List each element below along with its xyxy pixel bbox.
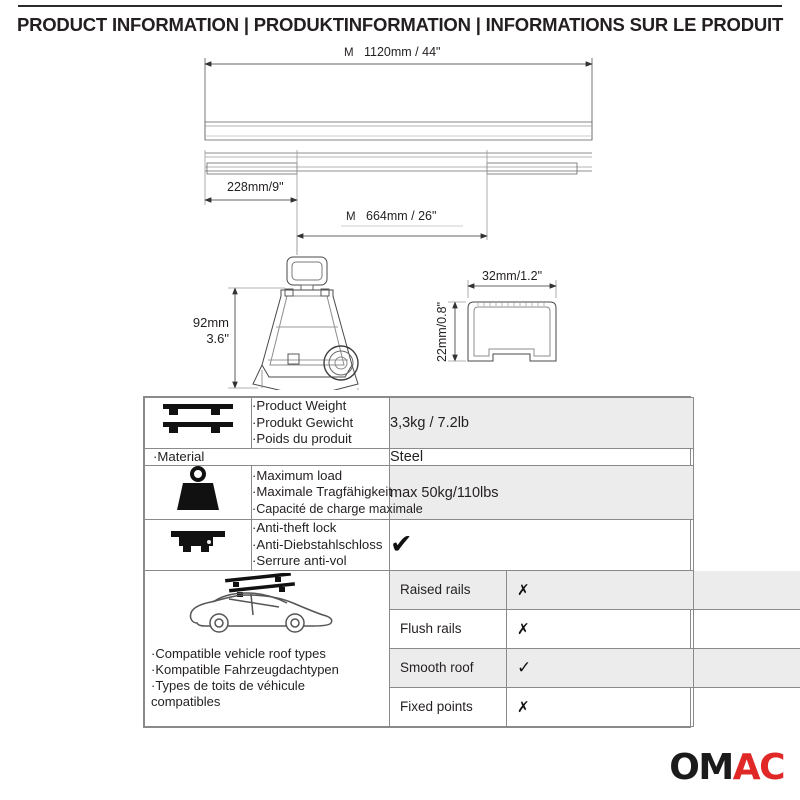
roof-type-name: Fixed points	[390, 687, 507, 726]
cross-icon: ✗	[517, 582, 530, 599]
roof-type-mark: ✗	[507, 571, 800, 610]
label-line-fr: ·Capacité de charge maximale	[252, 501, 389, 518]
label-line-en: ·Anti-theft lock	[252, 520, 389, 537]
roof-type-mark: ✗	[507, 687, 800, 726]
lock-icon	[145, 520, 252, 571]
foot-height-line2: 3.6"	[206, 331, 229, 346]
technical-drawing: M 1120mm / 44" 228mm/9" M 664mm / 26"	[0, 40, 800, 390]
spread-prefix: M	[346, 211, 356, 223]
label-line-en: ·Product Weight	[252, 398, 389, 415]
profile-height-value: 22mm/0.8"	[435, 302, 449, 362]
label-line-en: ·Compatible vehicle roof types	[151, 646, 339, 662]
label-product-weight: ·Product Weight ·Produkt Gewicht ·Poids …	[252, 398, 390, 449]
label-anti-theft-lock: ·Anti-theft lock ·Anti-Diebstahlschloss …	[252, 520, 390, 571]
logo-text-dark: OM	[669, 747, 732, 788]
header-rule	[18, 5, 782, 7]
roof-type-name: Flush rails	[390, 609, 507, 648]
table-row-product-weight: ·Product Weight ·Produkt Gewicht ·Poids …	[145, 398, 694, 449]
foot-height-line1: 92mm	[193, 315, 229, 330]
label-line-de: ·Produkt Gewicht	[252, 415, 389, 432]
cross-icon: ✗	[517, 699, 530, 716]
label-line-de: ·Anti-Diebstahlschloss	[252, 537, 389, 554]
omac-logo: OMAC	[669, 750, 784, 786]
check-icon: ✔	[390, 529, 413, 559]
roof-type-row-smooth-roof: Smooth roof ✓	[390, 648, 800, 687]
value-maximum-load: max 50kg/110lbs	[390, 466, 694, 520]
crossbars-icon	[145, 398, 252, 449]
roof-types-subtable: Raised rails ✗ Flush rails ✗ Smooth roof…	[390, 570, 694, 726]
roof-type-mark: ✗	[507, 609, 800, 648]
label-line-fr: ·Poids du produit	[252, 431, 389, 448]
label-line-en: ·Material	[153, 449, 389, 466]
label-line-fr-cont: compatibles	[151, 694, 339, 710]
bar-length-prefix: M	[344, 47, 354, 59]
roof-type-name: Smooth roof	[390, 648, 507, 687]
label-material: ·Material	[145, 448, 390, 466]
roof-type-row-raised-rails: Raised rails ✗	[390, 571, 800, 610]
spec-table: ·Product Weight ·Produkt Gewicht ·Poids …	[143, 396, 691, 728]
bar-length-value: 1120mm / 44"	[364, 45, 440, 59]
label-line-de: ·Maximale Tragfähigkeit	[252, 484, 389, 501]
label-line-fr: ·Serrure anti-vol	[252, 553, 389, 570]
table-row-material: ·Material Steel	[145, 448, 694, 466]
table-row-anti-theft-lock: ·Anti-theft lock ·Anti-Diebstahlschloss …	[145, 520, 694, 571]
spread-value: 664mm / 26"	[366, 209, 436, 223]
roof-types-label-block: ·Compatible vehicle roof types ·Kompatib…	[145, 646, 339, 710]
label-maximum-load: ·Maximum load ·Maximale Tragfähigkeit ·C…	[252, 466, 390, 520]
page-title: PRODUCT INFORMATION | PRODUKTINFORMATION…	[0, 14, 800, 36]
roof-type-row-fixed-points: Fixed points ✗	[390, 687, 800, 726]
end-offset-value: 228mm/9"	[227, 180, 284, 194]
value-material: Steel	[390, 448, 694, 466]
check-icon: ✓	[517, 658, 531, 677]
label-roof-types: ·Compatible vehicle roof types ·Kompatib…	[145, 570, 390, 726]
label-line-fr: ·Types de toits de véhicule	[151, 678, 339, 694]
logo-text-red: AC	[733, 747, 784, 788]
weight-icon	[145, 466, 252, 520]
roof-type-row-flush-rails: Flush rails ✗	[390, 609, 800, 648]
label-line-de: ·Kompatible Fahrzeugdachtypen	[151, 662, 339, 678]
roof-type-mark: ✓	[507, 648, 800, 687]
cross-icon: ✗	[517, 621, 530, 638]
value-product-weight: 3,3kg / 7.2lb	[390, 398, 694, 449]
label-line-en: ·Maximum load	[252, 468, 389, 485]
value-anti-theft-lock: ✔	[390, 520, 694, 571]
roof-type-name: Raised rails	[390, 571, 507, 610]
table-row-maximum-load: ·Maximum load ·Maximale Tragfähigkeit ·C…	[145, 466, 694, 520]
profile-width-value: 32mm/1.2"	[482, 269, 542, 283]
car-with-rack-icon	[167, 573, 367, 640]
table-row-roof-types: ·Compatible vehicle roof types ·Kompatib…	[145, 570, 694, 726]
